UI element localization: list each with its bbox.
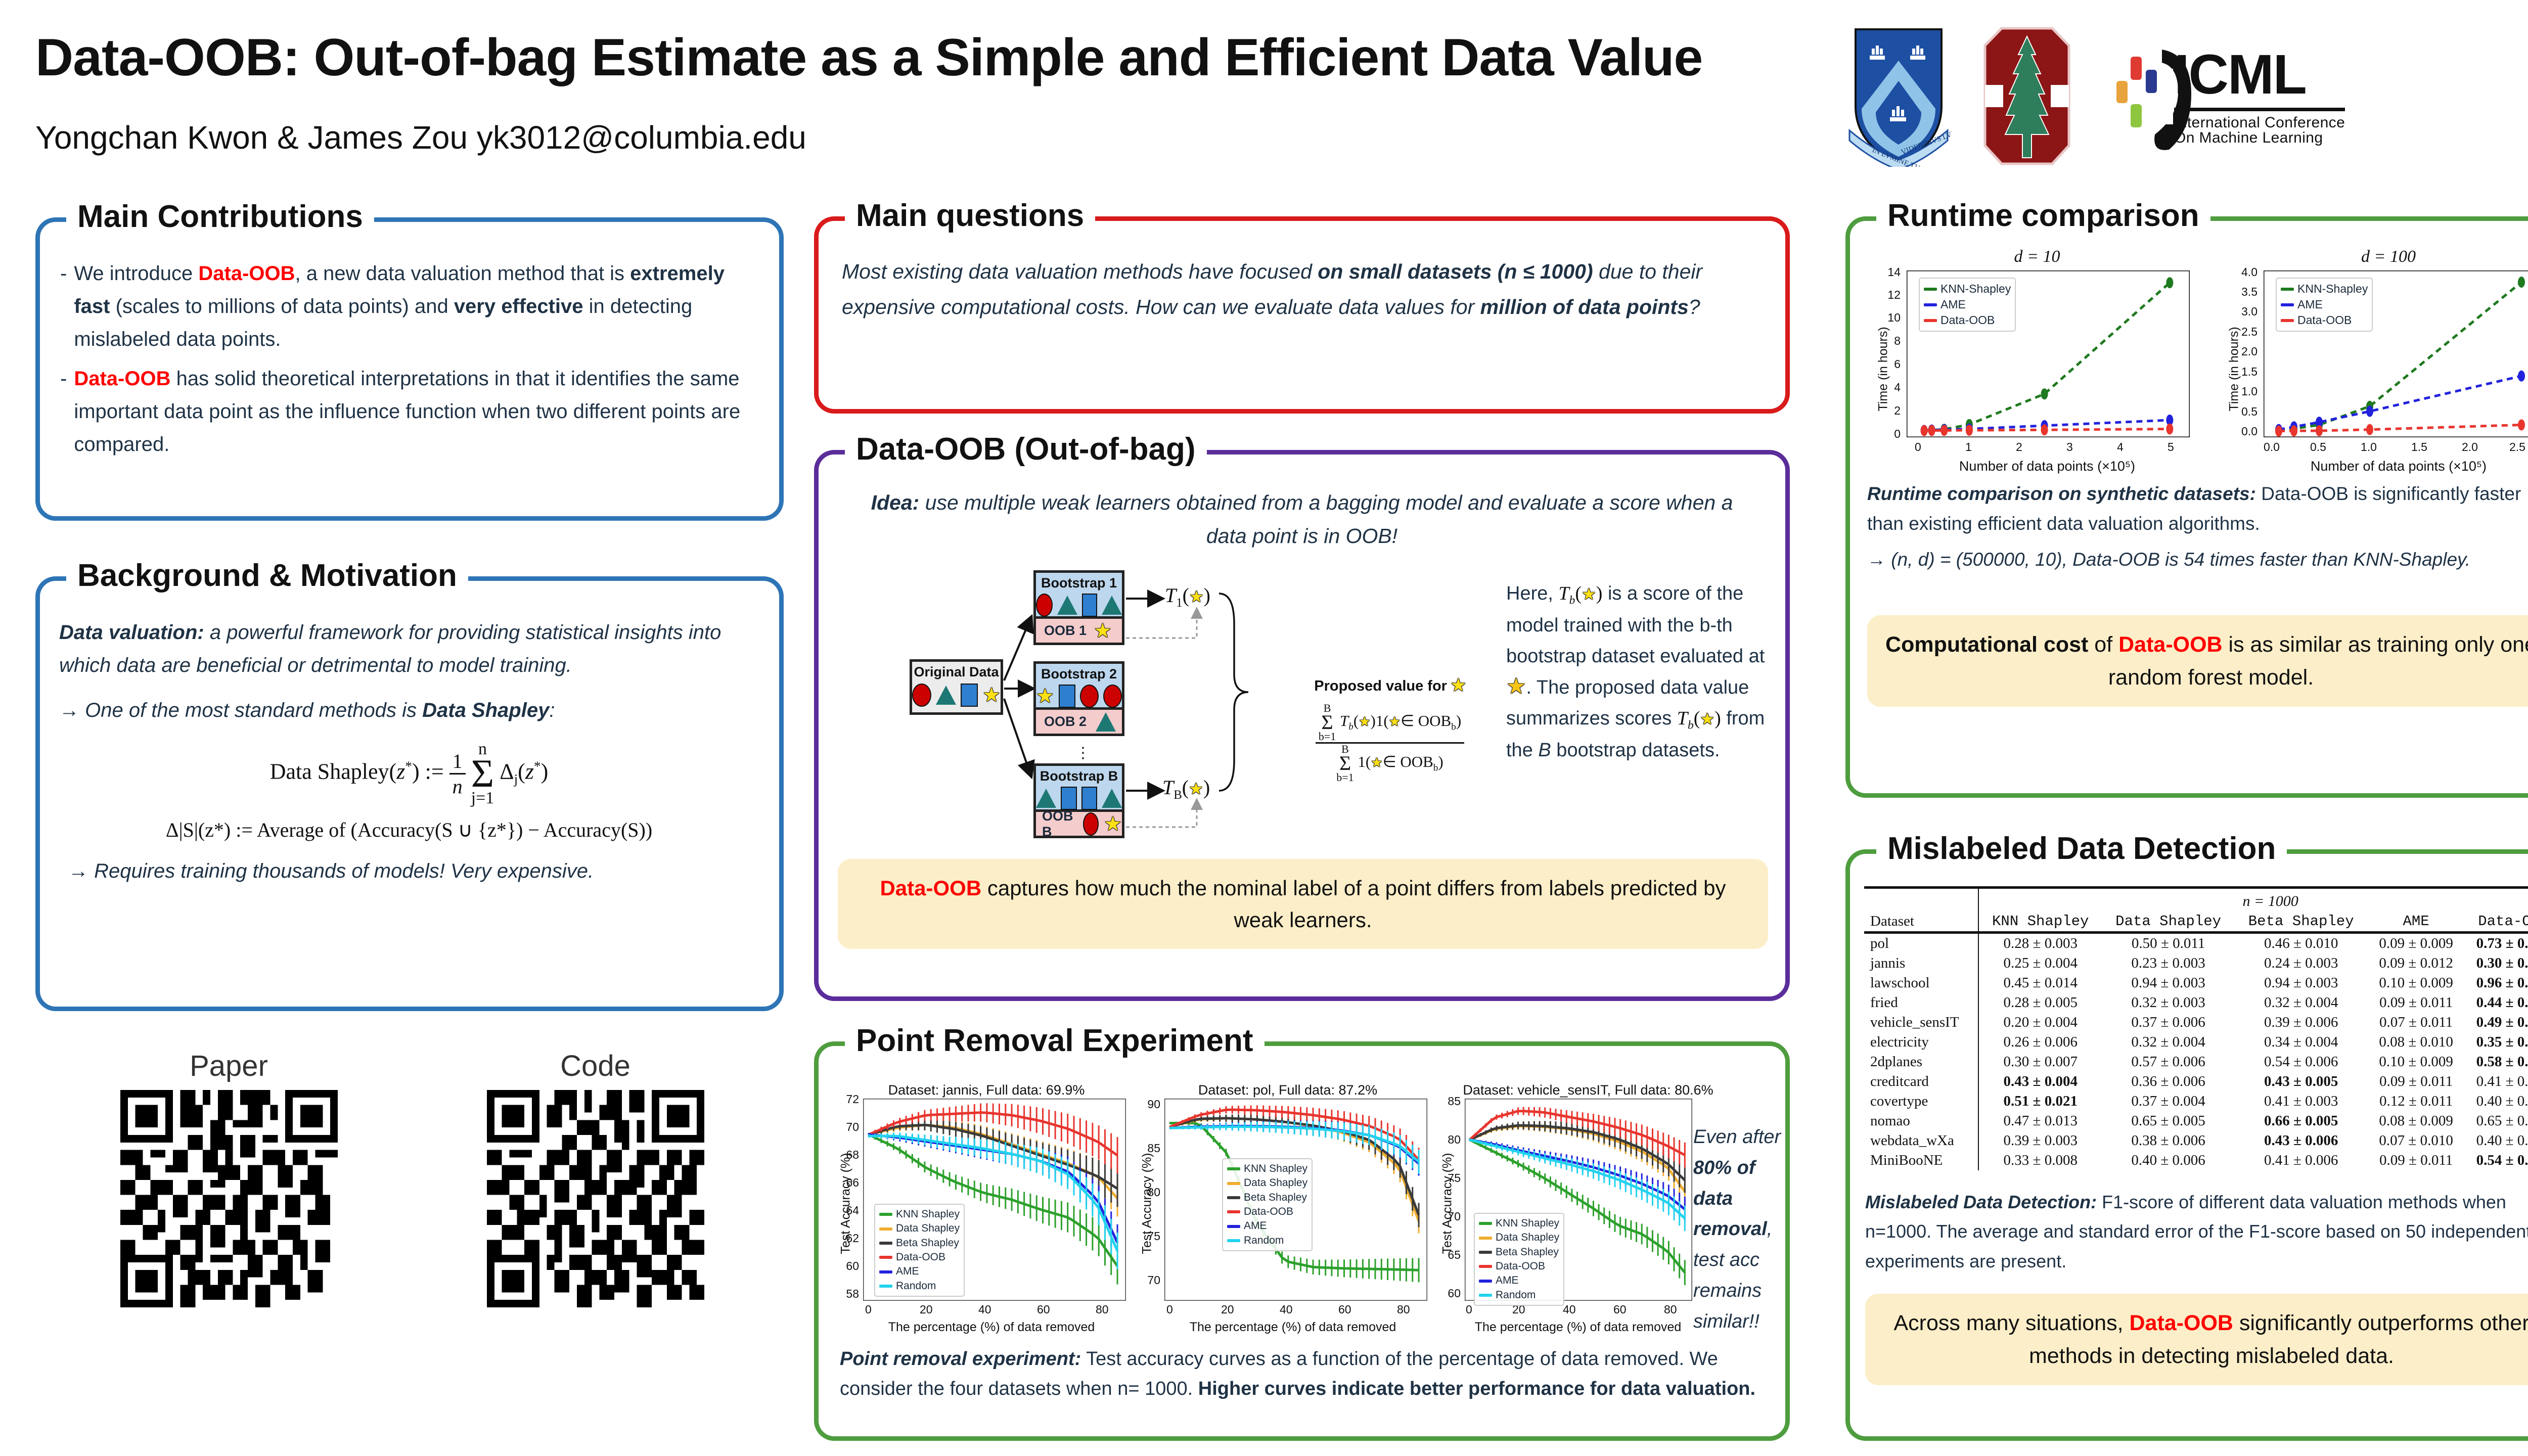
legend-item: Random [1227, 1234, 1307, 1248]
legend-label: AME [896, 1264, 919, 1279]
table-cell: 0.07 ± 0.011 [2368, 1013, 2465, 1032]
chart-title: d = 10 [1870, 247, 2204, 266]
table-cell: 0.08 ± 0.010 [2368, 1032, 2465, 1052]
table-cell: 0.09 ± 0.012 [2368, 953, 2465, 973]
row-dataset-name: pol [1864, 933, 1978, 954]
legend-item: Data-OOB [1227, 1205, 1307, 1219]
bullet-dash: - [60, 257, 67, 355]
legend-label: Data Shapley [1244, 1176, 1307, 1190]
original-data-label: Original Data [912, 662, 1001, 680]
data-point [2041, 424, 2048, 435]
mislabeled-table-wrap: n = 1000 Dataset KNN Shapley Data Shaple… [1864, 886, 2528, 1170]
legend-label: AME [2297, 297, 2323, 312]
expl-5: bootstrap datasets. [1551, 740, 1720, 761]
background-lead: Data valuation: a powerful framework for… [59, 616, 759, 682]
circle-icon [1103, 685, 1122, 708]
table-cell: 0.40 ± 0.003 [2465, 1131, 2528, 1151]
circle-icon [1036, 594, 1053, 617]
table-cell: 0.45 ± 0.014 [1978, 973, 2102, 993]
bootstrap-2-shapes: ★ [1036, 685, 1122, 707]
legend-item: Data Shapley [879, 1221, 960, 1236]
table-cell: 0.36 ± 0.006 [2102, 1072, 2235, 1091]
callout-rest: captures how much the nominal label of a… [981, 876, 1726, 932]
table-row: nomao0.47 ± 0.0130.65 ± 0.0050.66 ± 0.00… [1864, 1111, 2528, 1131]
row-dataset-name: electricity [1864, 1032, 1978, 1052]
legend-item: Beta Shapley [1479, 1245, 1559, 1259]
table-cell: 0.35 ± 0.002 [2465, 1032, 2528, 1052]
table-cell: 0.30 ± 0.007 [1978, 1052, 2102, 1072]
triangle-icon [1102, 596, 1122, 615]
data-point [2366, 424, 2373, 435]
col-knn: KNN Shapley [1978, 912, 2102, 933]
table-cell: 0.38 ± 0.006 [2102, 1131, 2235, 1151]
table-cell: 0.09 ± 0.011 [2368, 993, 2465, 1013]
chart-legend: KNN-Shapley AME Data-OOB [2276, 278, 2373, 332]
data-point [2290, 425, 2297, 436]
y-tick-labels: 85 80 75 70 65 60 [1436, 1099, 1464, 1301]
table-cell: 0.43 ± 0.005 [2235, 1072, 2368, 1091]
proposed-value-formula: BΣb=1 Tb(★)1(★∈ OOBb) BΣb=1 1(★∈ OOBb) [1289, 703, 1491, 783]
main-questions-card: Main questions Most existing data valuat… [814, 216, 1790, 414]
x-axis-label: The percentage (%) of data removed [1156, 1320, 1429, 1335]
main-questions-text: Most existing data valuation methods hav… [819, 221, 1785, 325]
table-cell: 0.28 ± 0.003 [1978, 933, 2102, 954]
mq-line3b: million of data points [1480, 295, 1689, 318]
table-cell: 0.50 ± 0.011 [2102, 933, 2235, 954]
table-row: webdata_wXa0.39 ± 0.0030.38 ± 0.0060.43 … [1864, 1131, 2528, 1151]
table-cell: 0.43 ± 0.004 [1978, 1072, 2102, 1091]
data-point [2518, 371, 2525, 382]
idea-text: use multiple weak learners obtained from… [919, 491, 1733, 548]
legend-item: AME [1924, 297, 2011, 312]
legend-label: AME [1940, 297, 1966, 312]
score-t1-label: T1(★) [1165, 583, 1210, 610]
table-cell: 0.57 ± 0.006 [2102, 1052, 2235, 1072]
paper-qr-code[interactable] [120, 1090, 338, 1307]
col-data-oob: Data-OOB [2465, 912, 2528, 933]
bootstrap-B-label: Bootstrap B [1036, 766, 1122, 784]
table-cell: 0.65 ± 0.005 [2102, 1111, 2235, 1131]
icml-mark [2102, 45, 2163, 147]
table-cell: 0.66 ± 0.005 [2235, 1111, 2368, 1131]
table-row: fried0.28 ± 0.0050.32 ± 0.0030.32 ± 0.00… [1864, 993, 2528, 1013]
code-label: Code [487, 1049, 704, 1083]
bootstrap-2-node: Bootstrap 2 ★ [1033, 661, 1124, 710]
table-cell: 0.09 ± 0.011 [2368, 1151, 2465, 1170]
data-oob-card: Data-OOB (Out-of-bag) Idea: use multiple… [814, 450, 1790, 1001]
legend-label: Data-OOB [1496, 1259, 1545, 1273]
row-dataset-name: jannis [1864, 953, 1978, 973]
mq-line1b: on small [1318, 260, 1402, 283]
triangle-icon [1036, 789, 1056, 808]
legend-item: Data-OOB [879, 1250, 960, 1264]
bootstrap-1-shapes [1036, 594, 1122, 616]
rectangle-icon [1059, 685, 1075, 708]
rectangle-icon [1082, 594, 1097, 617]
code-qr-code[interactable] [487, 1090, 704, 1307]
legend-label: Data Shapley [896, 1221, 960, 1236]
table-cell: 0.54 ± 0.004 [2465, 1151, 2528, 1170]
table-cell: 0.25 ± 0.004 [1978, 953, 2102, 973]
idea-label: Idea: [871, 491, 920, 514]
point-removal-caption: Point removal experiment: Test accuracy … [840, 1344, 1770, 1404]
mislabeled-table: n = 1000 Dataset KNN Shapley Data Shaple… [1864, 886, 2528, 1170]
col-beta-shapley: Beta Shapley [2235, 912, 2368, 933]
bootstrap-1-label: Bootstrap 1 [1036, 573, 1122, 591]
legend-item: AME [879, 1264, 960, 1279]
star-icon: ★ [1036, 686, 1054, 706]
table-cell: 0.46 ± 0.010 [2235, 933, 2368, 954]
triangle-icon [936, 686, 956, 705]
rt-callout-b: of [2088, 632, 2118, 657]
bullet-dash: - [60, 362, 67, 461]
main-contributions-title: Main Contributions [66, 199, 374, 235]
x-axis-label: The percentage (%) of data removed [855, 1320, 1128, 1335]
bootstrap-row-1: Bootstrap 1 OOB 1 ★ [1033, 570, 1124, 645]
data-point [2166, 277, 2173, 288]
table-cell: 0.47 ± 0.013 [1978, 1111, 2102, 1131]
chart-runtime-d10: d = 10 Time (in hours) 14 12 10 8 6 4 2 … [1870, 247, 2204, 480]
data-point [2275, 426, 2282, 437]
data-point [2518, 277, 2525, 288]
table-cell: 0.39 ± 0.006 [2235, 1013, 2368, 1032]
triangle-icon [1057, 596, 1077, 615]
legend-item: KNN Shapley [1479, 1216, 1559, 1231]
table-cell: 0.32 ± 0.004 [2102, 1032, 2235, 1052]
point-removal-side-note: Even after 80% of data removal, test acc… [1693, 1122, 1789, 1337]
row-dataset-name: covertype [1864, 1091, 1978, 1111]
oob-2-node: OOB 2 [1033, 710, 1124, 736]
original-data-shapes: ★ [912, 684, 1001, 706]
table-cell: 0.26 ± 0.006 [1978, 1032, 2102, 1052]
links-row: Paper [46, 1049, 779, 1310]
rectangle-icon [961, 684, 978, 707]
chart-runtime-d100: d = 100 Time (in hours) 4.0 3.5 3.0 2.5 … [2219, 247, 2528, 480]
paper-label: Paper [120, 1049, 338, 1083]
oob-B-node: OOB B ★ [1033, 812, 1124, 838]
diagram-ellipsis: ⋮ [1075, 744, 1091, 762]
row-dataset-name: webdata_wXa [1864, 1131, 1978, 1151]
bootstrap-2-label: Bootstrap 2 [1036, 664, 1122, 682]
background-arrow-2: → Requires training thousands of models!… [59, 855, 759, 888]
authors-line: Yongchan Kwon & James Zou yk3012@columbi… [35, 119, 806, 156]
rt-callout-c: Data-OOB [2118, 632, 2222, 657]
oob-B-label: OOB B [1042, 808, 1078, 840]
legend-label: KNN-Shapley [2297, 281, 2368, 297]
mq-line3a: How can we evaluate data values for [1136, 295, 1480, 318]
table-row: 2dplanes0.30 ± 0.0070.57 ± 0.0060.54 ± 0… [1864, 1052, 2528, 1072]
legend-label: Beta Shapley [1496, 1245, 1559, 1259]
legend-item: AME [2281, 297, 2368, 312]
legend-label: KNN-Shapley [1940, 281, 2011, 297]
rectangle-icon [1081, 787, 1098, 810]
score-tb-label: TB(★) [1162, 776, 1210, 802]
chart-title: d = 100 [2219, 247, 2528, 266]
mislabeled-caption: Mislabeled Data Detection: F1-score of d… [1865, 1188, 2528, 1276]
bootstrap-B-node: Bootstrap B [1033, 763, 1124, 812]
chart-legend: KNN-Shapley AME Data-OOB [1919, 278, 2016, 332]
table-cell: 0.34 ± 0.004 [2235, 1032, 2368, 1052]
chart-removal-jannis: Dataset: jannis, Full data: 69.9% Test A… [835, 1082, 1138, 1335]
table-cell: 0.09 ± 0.011 [2368, 1072, 2465, 1091]
bootstrap-B-shapes [1036, 787, 1122, 809]
legend-label: Random [1496, 1288, 1536, 1302]
table-cell: 0.73 ± 0.004 [2465, 933, 2528, 954]
legend-label: AME [1496, 1273, 1519, 1288]
table-cell: 0.41 ± 0.003 [2235, 1091, 2368, 1111]
runtime-caption-arrow: → (n, d) = (500000, 10), Data-OOB is 54 … [1867, 544, 2528, 574]
data-oob-title: Data-OOB (Out-of-bag) [845, 431, 1207, 467]
table-cell: 0.32 ± 0.003 [2102, 993, 2235, 1013]
table-row: electricity0.26 ± 0.0060.32 ± 0.0040.34 … [1864, 1032, 2528, 1052]
col-data-shapley: Data Shapley [2102, 912, 2235, 933]
table-cell: 0.40 ± 0.002 [2465, 1091, 2528, 1111]
main-questions-title: Main questions [845, 198, 1095, 234]
legend-label: Data-OOB [1940, 312, 1995, 328]
table-cell: 0.49 ± 0.004 [2465, 1013, 2528, 1032]
table-cell: 0.12 ± 0.011 [2368, 1091, 2465, 1111]
chart-title: Dataset: pol, Full data: 87.2% [1136, 1082, 1439, 1098]
oob-2-label: OOB 2 [1044, 714, 1087, 730]
legend-item: KNN Shapley [1227, 1162, 1307, 1176]
legend-item: Data-OOB [1924, 312, 2011, 328]
legend-item: KNN-Shapley [1924, 281, 2011, 297]
bootstrap-1-node: Bootstrap 1 [1033, 570, 1124, 619]
chart-legend: KNN Shapley Data Shapley Beta Shapley Da… [1222, 1158, 1313, 1251]
table-cell: 0.37 ± 0.004 [2102, 1091, 2235, 1111]
legend-item: Random [879, 1279, 960, 1293]
data-point [1940, 425, 1948, 436]
bagging-diagram: Original Data ★ [834, 563, 1304, 841]
mislabeled-title: Mislabeled Data Detection [1876, 831, 2287, 867]
table-cell: 0.09 ± 0.009 [2368, 933, 2465, 954]
logo-row: IN LVMINE TVO VIDEBIMVS LVMEN [1845, 20, 2528, 172]
table-cell: 0.10 ± 0.009 [2368, 1052, 2465, 1072]
background-arrow-1: → One of the most standard methods is Da… [59, 694, 759, 727]
original-data-node: Original Data ★ [910, 659, 1003, 715]
columbia-logo: IN LVMINE TVO VIDEBIMVS LVMEN [1845, 25, 1952, 167]
legend-label: AME [1244, 1219, 1267, 1233]
proposed-value-text: Proposed value for [1314, 678, 1447, 694]
star-icon: ★ [1104, 814, 1122, 834]
proposed-value-block: Proposed value for ★ BΣb=1 Tb(★)1(★∈ OOB… [1289, 677, 1491, 783]
table-row: pol0.28 ± 0.0030.50 ± 0.0110.46 ± 0.0100… [1864, 933, 2528, 954]
data-oob-idea: Idea: use multiple weak learners obtaine… [819, 454, 1785, 553]
data-point [2366, 406, 2373, 417]
star-icon: ★ [1451, 676, 1466, 694]
mq-line2a: datasets (n ≤ 1000) [1408, 260, 1593, 283]
note-2: 80% of data removal [1693, 1157, 1767, 1240]
point-removal-title: Point Removal Experiment [845, 1023, 1265, 1059]
legend-item: Data Shapley [1227, 1176, 1307, 1190]
circle-icon [1083, 812, 1099, 836]
legend-label: Data-OOB [896, 1250, 945, 1264]
icml-logo: ICML International Conference On Machine… [2102, 45, 2345, 147]
star-icon: ★ [1094, 621, 1112, 641]
legend-item: Data Shapley [1479, 1231, 1559, 1245]
mislabeled-card: Mislabeled Data Detection n = 1000 Datas… [1845, 849, 2528, 1441]
data-point [2166, 424, 2173, 435]
delta-definition-formula: Δ|S|(z*) := Average of (Accuracy(S ∪ {z*… [59, 818, 759, 842]
y-tick-labels: 72 70 68 66 64 62 60 58 [835, 1099, 862, 1301]
point-removal-card: Point Removal Experiment Dataset: jannis… [814, 1041, 1790, 1441]
md-callout-b: Data-OOB [2130, 1311, 2233, 1335]
row-dataset-name: vehicle_sensIT [1864, 1013, 1978, 1032]
oob-1-label: OOB 1 [1044, 623, 1087, 639]
paper-link-block[interactable]: Paper [120, 1049, 338, 1310]
y-tick-labels: 14 12 10 8 6 4 2 0 [1870, 270, 1905, 437]
table-cell: 0.30 ± 0.001 [2465, 953, 2528, 973]
row-dataset-name: fried [1864, 993, 1978, 1013]
chart-legend: KNN Shapley Data Shapley Beta Shapley Da… [874, 1204, 965, 1297]
row-dataset-name: creditcard [1864, 1072, 1978, 1091]
legend-label: Beta Shapley [896, 1236, 959, 1250]
legend-label: Random [1244, 1234, 1284, 1248]
data-oob-explanation: Here, Tb(★) is a score of the model trai… [1506, 578, 1769, 766]
md-callout-a: Across many situations, [1893, 1311, 2129, 1335]
table-cell: 0.37 ± 0.006 [2102, 1013, 2235, 1032]
legend-item: Data-OOB [2281, 312, 2368, 328]
bootstrap-row-2: Bootstrap 2 ★ OOB 2 [1033, 661, 1124, 736]
row-dataset-name: nomao [1864, 1111, 1978, 1131]
data-shapley-formula: Data Shapley(z*) := 1n nΣj=1 Δj(z*) [59, 741, 759, 806]
row-dataset-name: MiniBooNE [1864, 1151, 1978, 1170]
legend-item: KNN Shapley [879, 1207, 960, 1221]
data-point [2041, 388, 2048, 399]
background-title: Background & Motivation [66, 558, 468, 594]
table-cell: 0.51 ± 0.021 [1978, 1091, 2102, 1111]
legend-label: Random [896, 1279, 936, 1293]
legend-label: KNN Shapley [1496, 1216, 1559, 1231]
table-cell: 0.96 ± 0.002 [2465, 973, 2528, 993]
data-oob-callout: Data-OOB captures how much the nominal l… [838, 859, 1768, 949]
legend-item: AME [1227, 1219, 1307, 1233]
table-cell: 0.65 ± 0.004 [2465, 1111, 2528, 1131]
data-point [1966, 425, 1973, 436]
oob-1-node: OOB 1 ★ [1033, 619, 1124, 645]
mislabeled-callout: Across many situations, Data-OOB signifi… [1865, 1294, 2528, 1385]
table-cell: 0.54 ± 0.006 [2235, 1052, 2368, 1072]
table-row: MiniBooNE0.33 ± 0.0080.40 ± 0.0060.41 ± … [1864, 1151, 2528, 1170]
data-point [2518, 419, 2525, 430]
star-icon: ★ [982, 685, 1001, 705]
poster-root: Data-OOB: Out-of-bag Estimate as a Simpl… [0, 0, 2528, 1456]
table-row: vehicle_sensIT0.20 ± 0.0040.37 ± 0.0060.… [1864, 1013, 2528, 1032]
runtime-card: Runtime comparison d = 10 Time (in hours… [1845, 216, 2528, 798]
table-cell: 0.28 ± 0.005 [1978, 993, 2102, 1013]
circle-icon [1080, 685, 1099, 708]
table-row: jannis0.25 ± 0.0040.23 ± 0.0030.24 ± 0.0… [1864, 953, 2528, 973]
main-contributions-card: Main Contributions - We introduce Data-O… [35, 217, 784, 521]
runtime-title: Runtime comparison [1876, 198, 2210, 234]
background-card: Background & Motivation Data valuation: … [35, 576, 784, 1011]
mq-line3c: ? [1689, 295, 1700, 318]
code-link-block[interactable]: Code [487, 1049, 704, 1310]
legend-label: Data-OOB [1244, 1205, 1293, 1219]
table-cell: 0.94 ± 0.003 [2102, 973, 2235, 993]
table-row: creditcard0.43 ± 0.0040.36 ± 0.0060.43 ±… [1864, 1072, 2528, 1091]
chart-title: Dataset: jannis, Full data: 69.9% [835, 1082, 1138, 1098]
circle-icon [912, 684, 931, 707]
note-1: Even after [1693, 1126, 1781, 1148]
table-cell: 0.24 ± 0.003 [2235, 953, 2368, 973]
x-axis-label: The percentage (%) of data removed [1447, 1320, 1709, 1335]
runtime-caption-label: Runtime comparison on synthetic datasets… [1867, 483, 2256, 504]
table-cell: 0.94 ± 0.003 [2235, 973, 2368, 993]
chart-title: Dataset: vehicle_sensIT, Full data: 80.6… [1436, 1082, 1740, 1098]
table-group-header: n = 1000 [1978, 888, 2528, 912]
caption-b: Higher curves indicate better performanc… [1198, 1378, 1755, 1399]
legend-item: Beta Shapley [1227, 1191, 1307, 1205]
row-dataset-name: lawschool [1864, 973, 1978, 993]
chart-removal-pol: Dataset: pol, Full data: 87.2% Test Accu… [1136, 1082, 1439, 1335]
legend-item: Random [1479, 1288, 1559, 1302]
star-icon: ★ [1506, 674, 1526, 699]
data-point [1921, 425, 1928, 436]
table-cell: 0.10 ± 0.009 [2368, 973, 2465, 993]
table-cell: 0.20 ± 0.004 [1978, 1013, 2102, 1032]
table-cell: 0.39 ± 0.003 [1978, 1131, 2102, 1151]
table-row: lawschool0.45 ± 0.0140.94 ± 0.0030.94 ± … [1864, 973, 2528, 993]
legend-label: Beta Shapley [1244, 1191, 1307, 1205]
md-caption-label: Mislabeled Data Detection: [1865, 1192, 2097, 1212]
table-cell: 0.58 ± 0.004 [2465, 1052, 2528, 1072]
mq-line1a: Most existing data valuation methods hav… [842, 260, 1318, 283]
table-cell: 0.23 ± 0.003 [2102, 953, 2235, 973]
page-title: Data-OOB: Out-of-bag Estimate as a Simpl… [35, 28, 1702, 88]
expl-1: Here, [1506, 583, 1558, 604]
table-cell: 0.07 ± 0.010 [2368, 1131, 2465, 1151]
runtime-caption: Runtime comparison on synthetic datasets… [1867, 479, 2528, 538]
triangle-icon [1102, 789, 1122, 808]
contribution-bullet-2: - Data-OOB has solid theoretical interpr… [60, 362, 757, 461]
legend-item: AME [1479, 1273, 1559, 1288]
bootstrap-row-B: Bootstrap B OOB B ★ [1033, 763, 1124, 838]
contribution-bullet-1: - We introduce Data-OOB, a new data valu… [60, 257, 757, 355]
col-ame: AME [2368, 912, 2465, 933]
table-cell: 0.41 ± 0.006 [2235, 1151, 2368, 1170]
table-row: covertype0.51 ± 0.0210.37 ± 0.0040.41 ± … [1864, 1091, 2528, 1111]
table-cell: 0.32 ± 0.004 [2235, 993, 2368, 1013]
table-cell: 0.08 ± 0.009 [2368, 1111, 2465, 1131]
data-point [2316, 425, 2323, 436]
callout-highlight: Data-OOB [880, 876, 981, 900]
legend-item: Data-OOB [1479, 1259, 1559, 1273]
chart-legend: KNN Shapley Data Shapley Beta Shapley Da… [1474, 1213, 1564, 1306]
table-cell: 0.40 ± 0.006 [2102, 1151, 2235, 1170]
rectangle-icon [1061, 787, 1077, 810]
x-axis-label: Number of data points (×10⁵) [1885, 459, 2209, 474]
legend-label: Data-OOB [2297, 312, 2352, 328]
rt-callout-a: Computational cost [1885, 632, 2088, 657]
legend-label: KNN Shapley [896, 1207, 960, 1221]
legend-item: Beta Shapley [879, 1236, 960, 1250]
legend-item: KNN-Shapley [2281, 281, 2368, 297]
y-tick-labels: 4.0 3.5 3.0 2.5 2.0 1.5 1.0 0.5 0.0 [2219, 270, 2262, 437]
stanford-logo [1979, 25, 2075, 167]
triangle-icon [1096, 712, 1116, 732]
table-cell: 0.43 ± 0.006 [2235, 1131, 2368, 1151]
table-cell: 0.44 ± 0.004 [2465, 993, 2528, 1013]
legend-label: KNN Shapley [1244, 1162, 1307, 1176]
x-axis-label: Number of data points (×10⁵) [2239, 459, 2528, 474]
legend-label: Data Shapley [1496, 1231, 1559, 1245]
data-valuation-label: Data valuation: [59, 621, 204, 644]
runtime-callout: Computational cost of Data-OOB is as sim… [1867, 615, 2528, 707]
expl-B: B [1538, 740, 1551, 761]
proposed-value-label: Proposed value for ★ [1289, 677, 1491, 695]
table-cell: 0.33 ± 0.008 [1978, 1151, 2102, 1170]
